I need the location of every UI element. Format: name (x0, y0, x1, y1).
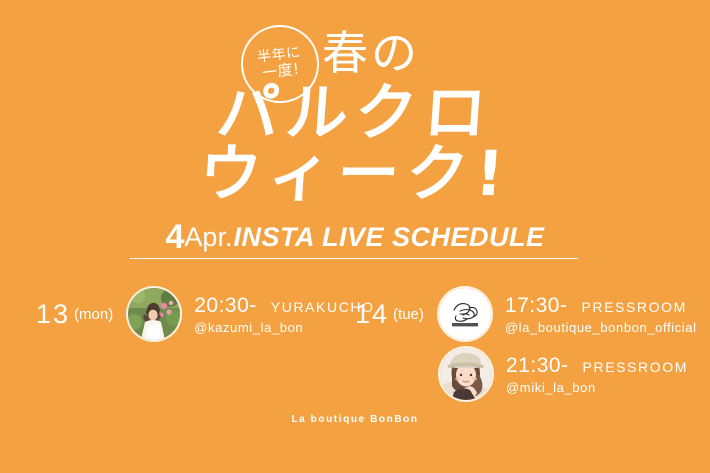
poster-canvas: 半年に 一度! 春の パルクロ ウィーク! 4Apr.INSTA LIVE SC… (0, 0, 710, 473)
heading-divider (130, 258, 578, 259)
entry-time: 20:30- (194, 294, 257, 318)
avatar (439, 288, 491, 340)
entry-info: 20:30- YURAKUCHO @kazumi_la_bon (194, 294, 374, 335)
entry-day-word: (mon) (74, 306, 113, 323)
logo-line-2: ウィーク! (0, 143, 710, 205)
schedule-month-number: 4 (166, 218, 185, 256)
schedule-month-abbr: Apr. (184, 222, 232, 252)
entry-info: 17:30- PRESSROOM @la_boutique_bonbon_off… (505, 294, 697, 335)
photo-woman-cap-icon (440, 348, 492, 400)
entry-handle[interactable]: @la_boutique_bonbon_official (505, 320, 697, 335)
schedule-title: INSTA LIVE SCHEDULE (233, 222, 544, 252)
logo-line-1: パルクロ (0, 82, 710, 144)
photo-woman-flowers-icon (128, 288, 180, 340)
schedule-entry: 21:30- PRESSROOM @miki_la_bon (440, 348, 688, 400)
avatar (128, 288, 180, 340)
schedule-entry: 13 (mon) (36, 288, 375, 340)
entry-day-number: 13 (36, 299, 70, 330)
entry-handle[interactable]: @kazumi_la_bon (194, 320, 374, 335)
hero-banner: 半年に 一度! 春の パルクロ ウィーク! (0, 0, 710, 210)
entry-day-number: 14 (355, 299, 389, 330)
entry-info: 21:30- PRESSROOM @miki_la_bon (506, 354, 688, 395)
entry-handle[interactable]: @miki_la_bon (506, 380, 688, 395)
logo-la-boutique-bonbon-icon (439, 288, 491, 340)
entry-time: 21:30- (506, 354, 569, 378)
entry-day-word: (tue) (393, 306, 424, 323)
schedule-heading: 4Apr.INSTA LIVE SCHEDULE (0, 218, 710, 257)
footer-brand: La boutique BonBon (0, 414, 710, 425)
entry-place: PRESSROOM (583, 359, 688, 375)
entry-place: PRESSROOM (581, 299, 686, 315)
entry-time: 17:30- (505, 294, 568, 318)
season-label: 春の (322, 30, 420, 76)
avatar (440, 348, 492, 400)
schedule-entry: 14 (tue) 17:30- PRESSROOM @la_boutique (355, 288, 697, 340)
